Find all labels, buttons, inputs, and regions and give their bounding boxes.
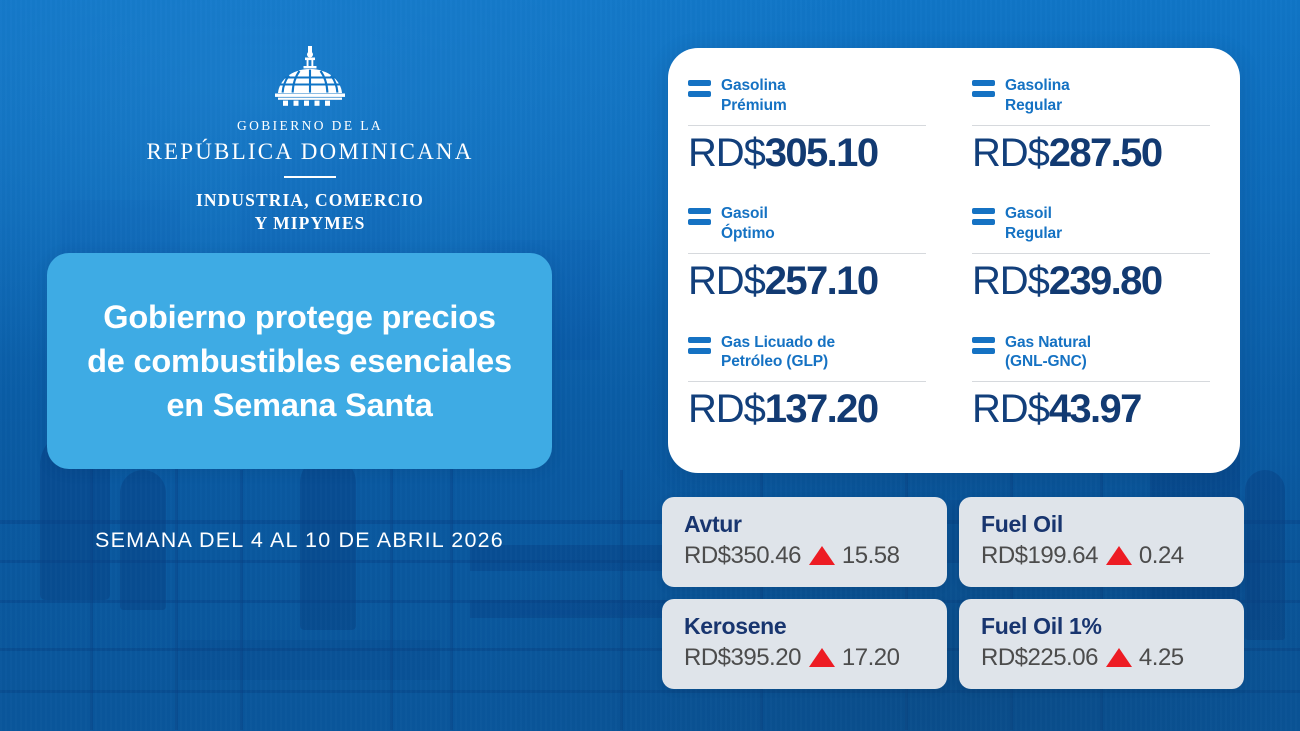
- week-dateline: SEMANA DEL 4 AL 10 DE ABRIL 2026: [47, 528, 552, 553]
- secondary-card-fuel-oil-1pct: Fuel Oil 1% RD$225.06 4.25: [959, 599, 1244, 689]
- price-value: RD$239.80: [972, 261, 1220, 301]
- fuel-name: Kerosene: [684, 613, 929, 640]
- price-item-gasoil-regular: Gasoil Regular RD$239.80: [972, 198, 1220, 326]
- two-bars-icon: [972, 76, 995, 97]
- price-item-gasolina-regular: Gasolina Regular RD$287.50: [972, 70, 1220, 198]
- price-item-gas-natural: Gas Natural (GNL-GNC) RD$43.97: [972, 327, 1220, 455]
- item-divider: [688, 125, 926, 126]
- price-change: 15.58: [842, 542, 900, 570]
- price-value: RD$137.20: [688, 389, 936, 429]
- secondary-card-kerosene: Kerosene RD$395.20 17.20: [662, 599, 947, 689]
- price-change: 0.24: [1139, 542, 1184, 570]
- currency-label: RD$: [688, 131, 765, 175]
- price-value: RD$395.20: [684, 644, 801, 672]
- currency-label: RD$: [972, 387, 1049, 431]
- left-column: GOBIERNO DE LA REPÚBLICA DOMINICANA INDU…: [0, 0, 660, 731]
- fuel-price-row: RD$225.06 4.25: [981, 644, 1226, 672]
- price-item-glp: Gas Licuado de Petróleo (GLP) RD$137.20: [688, 327, 936, 455]
- up-triangle-icon: [809, 546, 835, 565]
- price-value: RD$43.97: [972, 389, 1220, 429]
- item-divider: [688, 381, 926, 382]
- poster-canvas: GOBIERNO DE LA REPÚBLICA DOMINICANA INDU…: [0, 0, 1300, 731]
- item-divider: [972, 253, 1210, 254]
- secondary-card-fuel-oil: Fuel Oil RD$199.64 0.24: [959, 497, 1244, 587]
- price-value: RD$305.10: [688, 133, 936, 173]
- fuel-name-line-1: Gas Natural: [1005, 334, 1091, 351]
- currency-label: RD$: [688, 259, 765, 303]
- fuel-name-line-1: Gas Licuado de: [721, 334, 835, 351]
- fuel-name-line-2: Petróleo (GLP): [721, 353, 828, 370]
- fuel-name: Avtur: [684, 511, 929, 538]
- two-bars-icon: [688, 333, 711, 354]
- headline-line-1: Gobierno protege precios: [103, 299, 495, 335]
- fuel-price-row: RD$395.20 17.20: [684, 644, 929, 672]
- up-triangle-icon: [809, 648, 835, 667]
- two-bars-icon: [972, 204, 995, 225]
- fuel-name-line-2: Regular: [1005, 97, 1062, 114]
- headline-line-2: de combustibles esenciales: [87, 343, 512, 379]
- page-title: Gobierno protege precios de combustibles…: [61, 295, 538, 428]
- fuel-name-line-2: Prémium: [721, 97, 787, 114]
- secondary-card-avtur: Avtur RD$350.46 15.58: [662, 497, 947, 587]
- price-value: RD$225.06: [981, 644, 1098, 672]
- item-divider: [972, 125, 1210, 126]
- fuel-name-line-1: Gasoil: [721, 205, 768, 222]
- amount: 287.50: [1049, 131, 1162, 175]
- fuel-price-row: RD$199.64 0.24: [981, 542, 1226, 570]
- amount: 239.80: [1049, 259, 1162, 303]
- amount: 137.20: [765, 387, 878, 431]
- price-value: RD$287.50: [972, 133, 1220, 173]
- price-value: RD$199.64: [981, 542, 1098, 570]
- fuel-name-line-1: Gasolina: [721, 77, 786, 94]
- two-bars-icon: [688, 76, 711, 97]
- fuel-name-line-2: Óptimo: [721, 225, 775, 242]
- headline-panel: Gobierno protege precios de combustibles…: [47, 253, 552, 469]
- fuel-name-line-1: Gasoil: [1005, 205, 1052, 222]
- government-logo: GOBIERNO DE LA REPÚBLICA DOMINICANA INDU…: [0, 46, 620, 236]
- item-divider: [688, 253, 926, 254]
- price-item-gasoil-optimo: Gasoil Óptimo RD$257.10: [688, 198, 936, 326]
- up-triangle-icon: [1106, 546, 1132, 565]
- dome-emblem-icon: [264, 46, 356, 108]
- fuel-name-line-2: (GNL-GNC): [1005, 353, 1087, 370]
- fuel-name-line-2: Regular: [1005, 225, 1062, 242]
- logo-line-ministry-1: INDUSTRIA, COMERCIO: [196, 190, 424, 210]
- amount: 257.10: [765, 259, 878, 303]
- currency-label: RD$: [972, 131, 1049, 175]
- logo-line-ministry-2: Y MIPYMES: [255, 213, 366, 233]
- price-value: RD$350.46: [684, 542, 801, 570]
- amount: 305.10: [765, 131, 878, 175]
- price-grid: Gasolina Prémium RD$305.10 Gasolina Regu…: [688, 70, 1220, 455]
- fuel-name: Fuel Oil 1%: [981, 613, 1226, 640]
- price-change: 4.25: [1139, 644, 1184, 672]
- two-bars-icon: [688, 204, 711, 225]
- logo-divider: [284, 176, 336, 178]
- fuel-price-row: RD$350.46 15.58: [684, 542, 929, 570]
- logo-line-republica: REPÚBLICA DOMINICANA: [0, 139, 620, 165]
- price-value: RD$257.10: [688, 261, 936, 301]
- amount: 43.97: [1049, 387, 1141, 431]
- secondary-price-cards: Avtur RD$350.46 15.58 Fuel Oil RD$199.64…: [662, 497, 1244, 689]
- logo-line-gobierno: GOBIERNO DE LA: [0, 118, 620, 134]
- fuel-name: Fuel Oil: [981, 511, 1226, 538]
- headline-line-3: en Semana Santa: [166, 387, 432, 423]
- item-divider: [972, 381, 1210, 382]
- price-item-gasolina-premium: Gasolina Prémium RD$305.10: [688, 70, 936, 198]
- fuel-name-line-1: Gasolina: [1005, 77, 1070, 94]
- currency-label: RD$: [972, 259, 1049, 303]
- main-price-card: Gasolina Prémium RD$305.10 Gasolina Regu…: [668, 48, 1240, 473]
- currency-label: RD$: [688, 387, 765, 431]
- two-bars-icon: [972, 333, 995, 354]
- price-change: 17.20: [842, 644, 900, 672]
- up-triangle-icon: [1106, 648, 1132, 667]
